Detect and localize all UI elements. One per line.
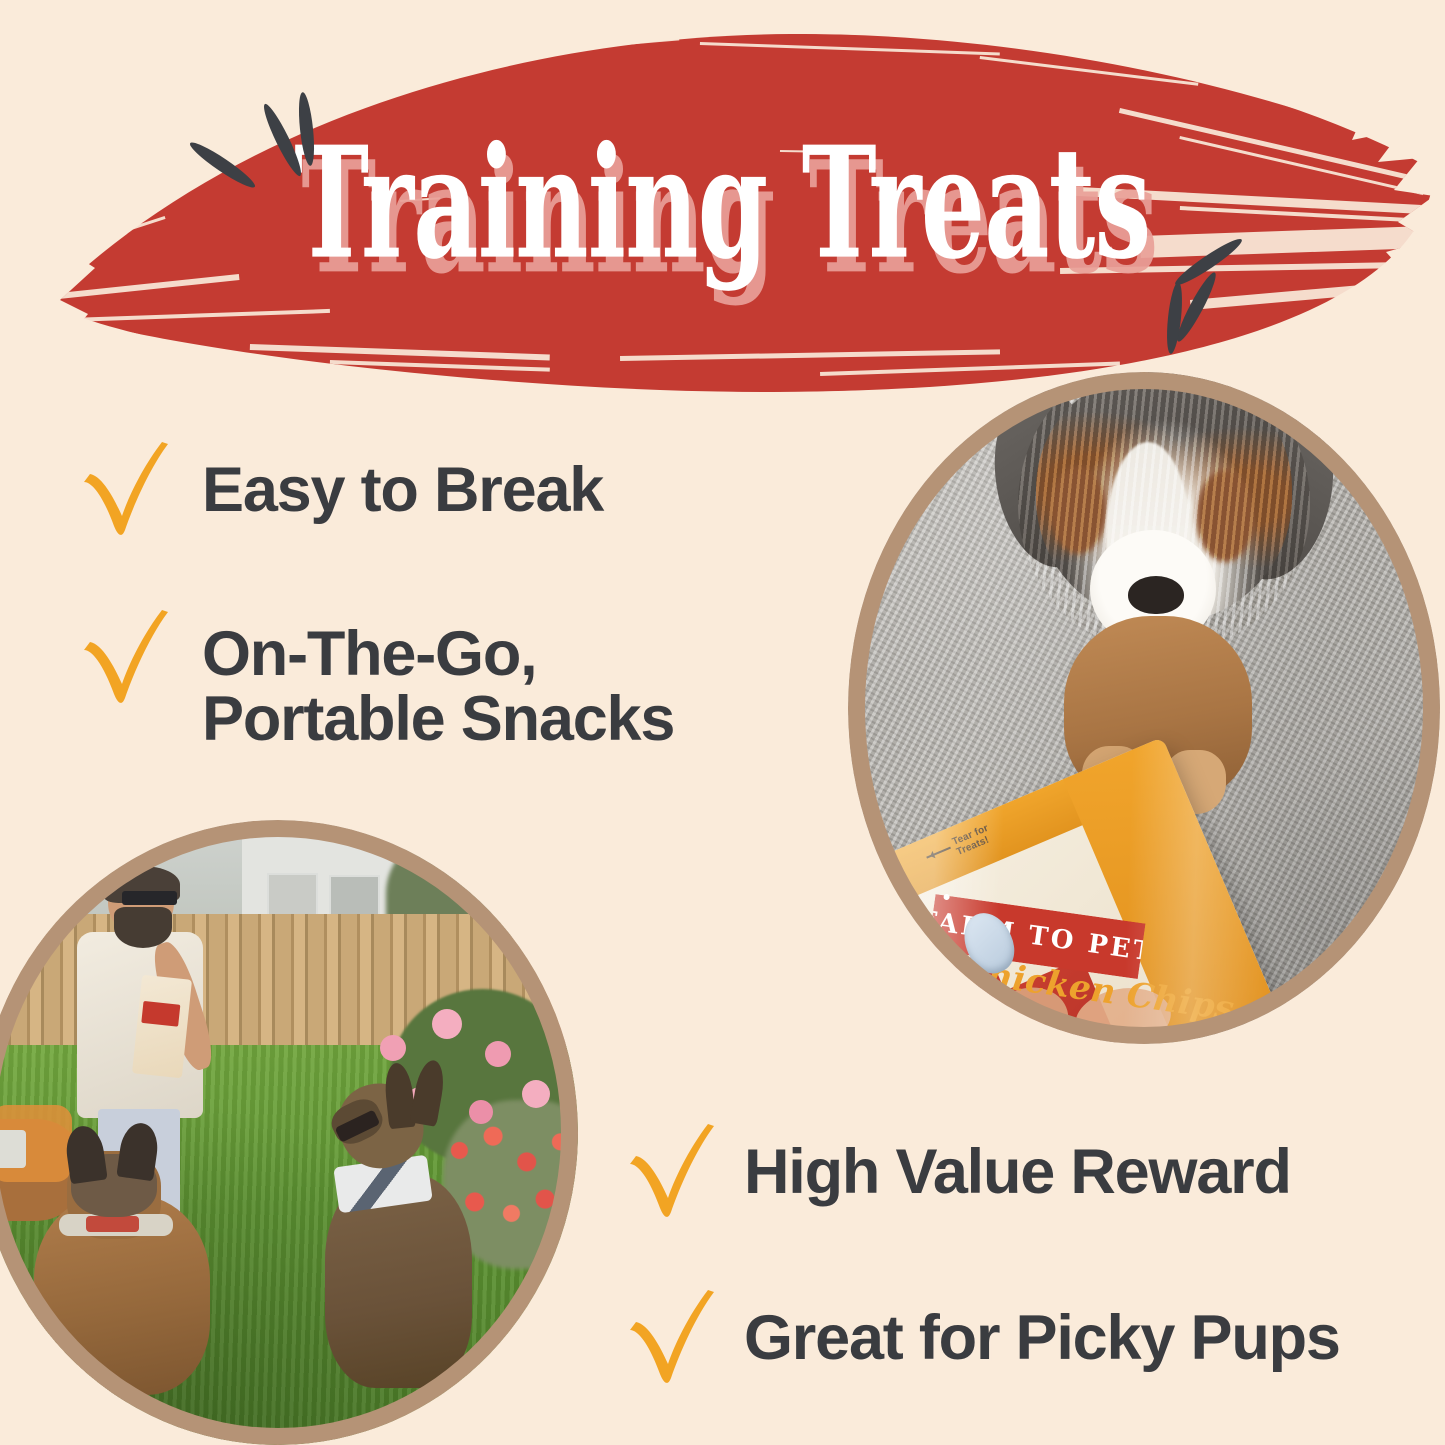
- check-icon: [78, 442, 176, 557]
- feature-label: On-The-Go, Portable Snacks: [202, 622, 674, 752]
- infographic-canvas: Training Treats Easy to Break On-The-Go,…: [0, 0, 1445, 1445]
- check-icon-glyph: [624, 1290, 722, 1400]
- feature-item-great-for-picky-pups: Great for Picky Pups: [624, 1290, 1340, 1405]
- feature-item-easy-to-break: Easy to Break: [78, 442, 603, 557]
- backyard-scene: [0, 820, 578, 1445]
- photo-puppy-with-treat-bag: Tear for Treats! Tear for Treats! FARM T…: [848, 372, 1440, 1044]
- puppy-scene: Tear for Treats! Tear for Treats! FARM T…: [848, 372, 1440, 1044]
- check-icon-glyph: [78, 610, 176, 720]
- feature-label: Easy to Break: [202, 458, 603, 523]
- dog-sitting: [314, 1083, 494, 1408]
- photo-backyard-dog-training: [0, 820, 578, 1445]
- brush-stroke-shape: [0, 0, 1445, 400]
- check-icon: [78, 610, 176, 725]
- check-icon: [624, 1124, 722, 1239]
- feature-label: Great for Picky Pups: [744, 1306, 1340, 1371]
- feature-item-on-the-go: On-The-Go, Portable Snacks: [78, 610, 674, 752]
- sunglasses: [122, 891, 177, 905]
- dog-foreground: [14, 1145, 218, 1445]
- header-banner: Training Treats: [0, 0, 1445, 400]
- check-icon-glyph: [78, 442, 176, 552]
- check-icon-glyph: [624, 1124, 722, 1234]
- feature-item-high-value-reward: High Value Reward: [624, 1124, 1291, 1239]
- feature-label: High Value Reward: [744, 1140, 1291, 1205]
- check-icon: [624, 1290, 722, 1405]
